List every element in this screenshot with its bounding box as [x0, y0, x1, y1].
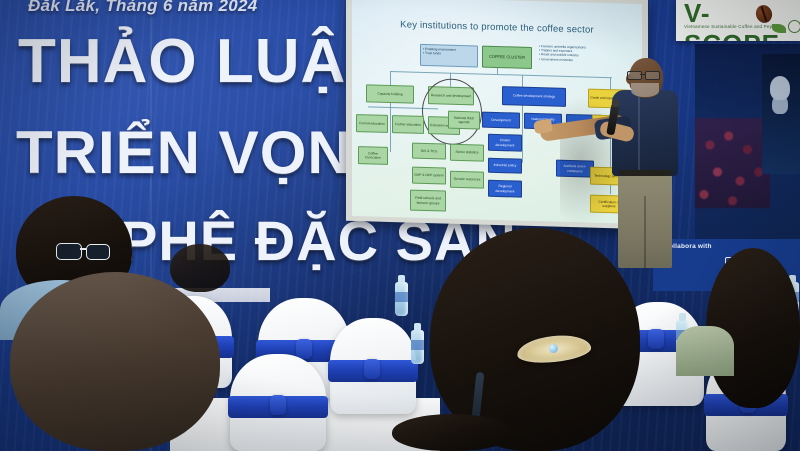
- attendee-shoulders: [676, 326, 734, 376]
- presenter-beard: [631, 83, 659, 97]
- presenter-glasses: [627, 71, 661, 78]
- coffee-cherries-photo: [695, 118, 770, 208]
- water-bottle: [411, 330, 424, 364]
- slide-node-further-education: Further education: [392, 115, 424, 134]
- vscope-logo-board: V-SCOPE Vietnamese Sustainable Coffee an…: [676, 0, 800, 41]
- presenter-belt: [619, 170, 671, 176]
- chair-bow-knot: [648, 329, 664, 349]
- callout-bullet-1: Trust funds: [425, 51, 441, 55]
- sunglasses-icon: [56, 243, 110, 259]
- presenter-shirt-placket: [638, 96, 640, 172]
- slide-node-field-schools: Field schools and farmers' groups: [410, 190, 446, 212]
- vscope-tagline: Vietnamese Sustainable Coffee and Pepper: [684, 24, 779, 29]
- side-bullet-3: Government ministries: [541, 57, 573, 62]
- slide-node-industrial-policy: Industrial policy: [488, 158, 522, 174]
- banner-headline-line-2: TRIỂN VỌNG: [16, 118, 399, 187]
- attendee-head: [392, 414, 512, 451]
- slide-node-root: COFFEE CLUSTER: [482, 46, 532, 69]
- slide-node-regional-development: Regional development: [488, 180, 522, 198]
- attendee-head: [10, 272, 220, 451]
- banner-headline-line-1: THẢO LUẬN: [18, 26, 392, 97]
- slide-pillar-coffee-development-strategy: Coffee development strategy: [502, 86, 566, 107]
- slide-callout-box: ▪ Enabling environment ▪ Trust funds: [420, 44, 478, 68]
- slide-pillar-capacity-building: Capacity building: [366, 84, 414, 103]
- presenter-leg-seam: [644, 196, 646, 268]
- attendee-head: [170, 244, 230, 292]
- chair-bow-knot: [270, 395, 286, 415]
- chair-bow-knot: [296, 339, 312, 359]
- worker-photo: [762, 54, 800, 174]
- slide-side-bullets: ▪ Farmers umbrella organizations ▪ Trade…: [538, 43, 622, 75]
- water-bottle: [395, 282, 408, 316]
- certification-seal-icon: [788, 20, 800, 33]
- slide-node-coffee-curriculum: Coffee Curriculum: [358, 146, 388, 165]
- slide-node-cluster-development: Cluster development: [488, 134, 522, 152]
- slide-node-formal-education: Formal education: [356, 114, 388, 133]
- banner-date-line: Đăk Lăk, Tháng 6 năm 2024: [28, 0, 338, 16]
- slide-node-gis-tics: GIS & TICs: [412, 143, 446, 160]
- slide-node-development: Development: [482, 112, 520, 129]
- vscope-logo-text: V-SCOPE: [684, 0, 800, 41]
- slide-node-genetic-resources: Genetic resources: [450, 171, 484, 189]
- slide-node-gap-gpp-system: GAP & GPP system: [412, 167, 446, 185]
- slide-node-national-rd-agenda: National R&D agenda: [448, 111, 480, 130]
- chair-bow-knot: [364, 359, 380, 379]
- leaf-icon: [772, 24, 786, 33]
- conference-photo-scene: Đăk Lăk, Tháng 6 năm 2024 THẢO LUẬN TRIỂ…: [0, 0, 800, 451]
- slide-node-sector-statistics: Sector statistics: [450, 144, 484, 162]
